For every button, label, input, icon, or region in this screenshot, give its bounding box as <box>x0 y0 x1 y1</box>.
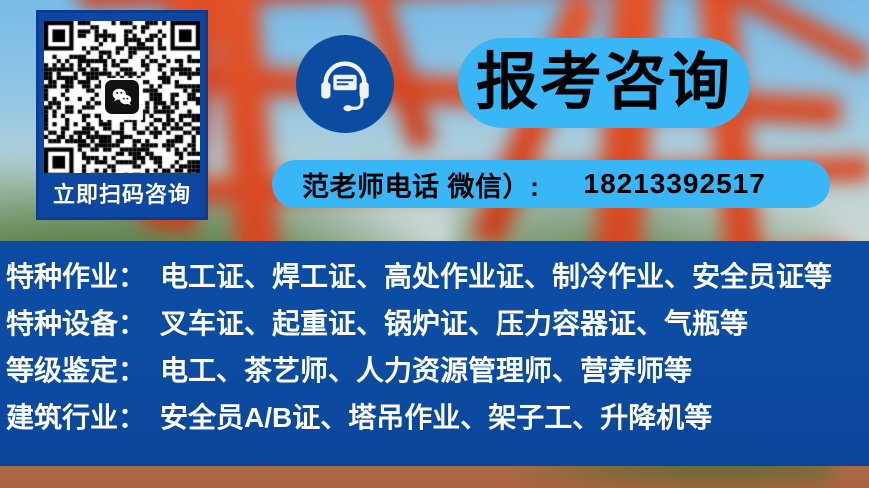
info-row-label: 建筑行业： <box>6 396 146 436</box>
info-row-label: 等级鉴定： <box>6 349 146 389</box>
certificate-list-panel: 特种作业： 电工证、焊工证、高处作业证、制冷作业、安全员证等 特种设备： 叉车证… <box>0 241 869 466</box>
info-row: 特种作业： 电工证、焊工证、高处作业证、制冷作业、安全员证等 <box>6 255 869 302</box>
qr-code-image[interactable] <box>44 21 200 173</box>
info-row: 特种设备： 叉车证、起重证、锅炉证、压力容器证、气瓶等 <box>6 302 869 349</box>
info-row-value: 安全员A/B证、塔吊作业、架子工、升降机等 <box>160 396 712 436</box>
info-row-value: 电工、茶艺师、人力资源管理师、营养师等 <box>160 349 692 389</box>
contact-label: 范老师电话 微信）: <box>302 165 540 204</box>
consultation-title-label: 报考咨询 <box>476 52 732 114</box>
promo-poster: 立即扫码咨询 报考咨询 范老师电话 微信）: 18213392517 特种作业：… <box>0 0 869 488</box>
wechat-icon <box>105 80 139 114</box>
info-row-label: 特种作业： <box>6 255 146 295</box>
contact-phone-bar[interactable]: 范老师电话 微信）: 18213392517 <box>272 160 830 208</box>
headset-support-icon <box>296 35 394 133</box>
info-row-label: 特种设备： <box>6 302 146 342</box>
qr-caption: 立即扫码咨询 <box>53 173 191 217</box>
info-row: 等级鉴定： 电工、茶艺师、人力资源管理师、营养师等 <box>6 349 869 396</box>
info-row-value: 电工证、焊工证、高处作业证、制冷作业、安全员证等 <box>160 255 832 295</box>
consultation-title-button[interactable]: 报考咨询 <box>458 38 750 128</box>
contact-phone-number[interactable]: 18213392517 <box>584 168 766 200</box>
qr-code-card[interactable]: 立即扫码咨询 <box>36 10 208 220</box>
info-row: 建筑行业： 安全员A/B证、塔吊作业、架子工、升降机等 <box>6 396 869 443</box>
info-row-value: 叉车证、起重证、锅炉证、压力容器证、气瓶等 <box>160 302 748 342</box>
